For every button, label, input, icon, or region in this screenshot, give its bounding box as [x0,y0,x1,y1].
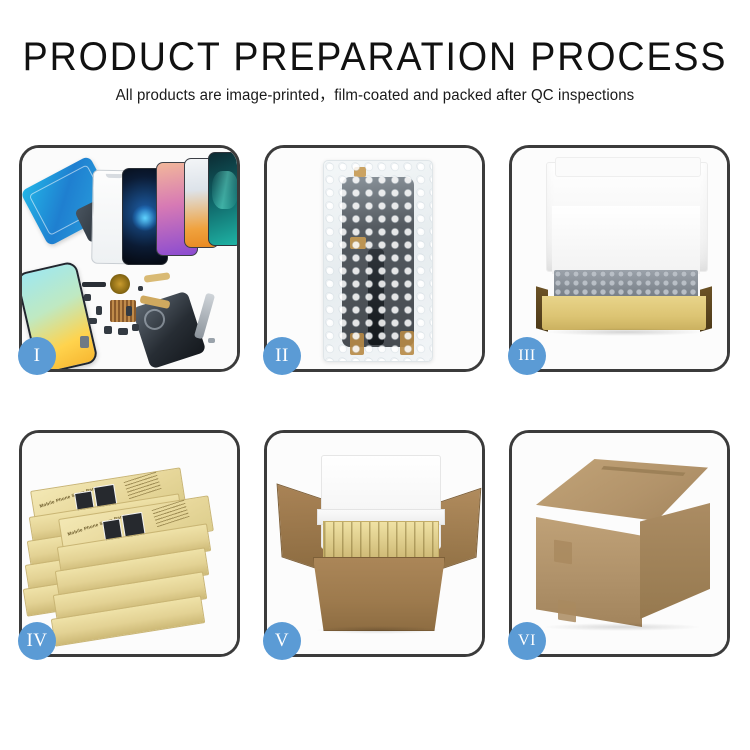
step-6-image [512,433,727,654]
bubble-wrapped-contents [554,270,698,298]
screw-part-8 [138,286,143,291]
carton-side-face [640,503,710,619]
bubble-wrap-illustration [267,148,482,369]
speaker-coil-part [110,274,130,294]
process-step-1: I [19,145,240,372]
foam-sheet [552,206,700,274]
box-stack-illustration: Mobile Phone Spare Parts Mobile Phone Sp… [22,433,237,654]
screw-part-5 [118,328,128,335]
page-title: PRODUCT PREPARATION PROCESS [23,34,728,80]
retail-box-stack: Mobile Phone Spare Parts Mobile Phone Sp… [30,455,236,635]
box-drop-shadow [546,328,704,336]
foam-carton-illustration [267,433,482,654]
process-step-3: III [509,145,730,372]
carton-tape-upper [554,540,572,565]
screw-part-3 [88,318,97,324]
step-2-image [267,148,482,369]
box-spec-lines-front [152,500,190,528]
tweezers-tool [194,293,215,340]
product-preparation-infographic: PRODUCT PREPARATION PROCESS All products… [0,0,750,750]
step-1-image [22,148,237,369]
flex-cable-part-a [144,272,171,283]
screw-part-9 [208,338,215,343]
step-badge-3: III [508,337,546,375]
process-grid: I II [19,145,731,684]
yellow-boxes-inside [323,521,439,561]
screw-part-4 [104,326,112,334]
screw-part-6 [132,324,139,331]
process-step-6: VI [509,430,730,657]
carton-tape-lower [558,600,576,623]
bubble-wrap-bag [323,160,433,362]
open-box-illustration [512,148,727,369]
step-5-image [267,433,482,654]
carton-body [313,557,445,631]
step-badge-1: I [18,337,56,375]
small-module-part [80,336,89,348]
step-badge-6: VI [508,622,546,660]
step-badge-5: V [263,622,301,660]
page-subtitle: All products are image-printed，film-coat… [11,86,739,106]
process-step-2: II [264,145,485,372]
carton-drop-shadow [315,626,441,634]
screw-part-1 [84,294,91,301]
box-spec-lines-rear [124,472,162,500]
earpiece-mesh-part [82,282,106,287]
carton-front-face [536,517,642,627]
carton-drop-shadow-6 [542,623,702,631]
screw-part-7 [126,306,132,316]
sealed-carton-illustration [512,433,727,654]
step-badge-4: IV [18,622,56,660]
step-4-image: Mobile Phone Spare Parts Mobile Phone Sp… [22,433,237,654]
step-badge-2: II [263,337,301,375]
chip-array-part [110,300,136,322]
step-3-image [512,148,727,369]
parts-layout-illustration [22,148,237,369]
screw-part-2 [96,306,102,315]
header: PRODUCT PREPARATION PROCESS All products… [0,34,750,106]
process-step-5: V [264,430,485,657]
phone-teal-display [208,152,237,246]
kraft-box-front-panel [542,296,706,330]
bubble-texture-overlay [324,161,432,361]
process-step-4: Mobile Phone Spare Parts Mobile Phone Sp… [19,430,240,657]
